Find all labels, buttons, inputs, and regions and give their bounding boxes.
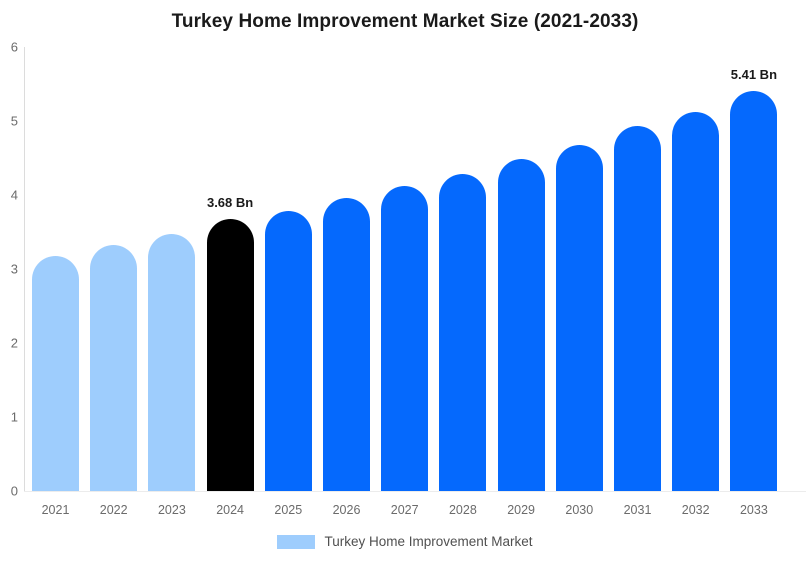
- plot-area: 012345620212022202320243.68 Bn2025202620…: [0, 0, 810, 562]
- bar-2026[interactable]: [323, 198, 370, 491]
- x-axis-line: [24, 491, 806, 492]
- bar-2031[interactable]: [614, 126, 661, 491]
- x-axis-tick-label: 2024: [207, 503, 254, 517]
- y-axis-tick-label: 0: [0, 484, 18, 499]
- bar-2033[interactable]: [730, 91, 777, 491]
- bar-2027[interactable]: [381, 186, 428, 491]
- chart-legend: Turkey Home Improvement Market: [0, 534, 810, 549]
- bar-2030[interactable]: [556, 145, 603, 491]
- x-axis-tick-label: 2025: [265, 503, 312, 517]
- x-axis-tick-label: 2026: [323, 503, 370, 517]
- y-axis-tick-label: 1: [0, 410, 18, 425]
- chart-container: Turkey Home Improvement Market Size (202…: [0, 0, 810, 562]
- x-axis-tick-label: 2032: [672, 503, 719, 517]
- y-axis-tick-label: 4: [0, 188, 18, 203]
- bar-2021[interactable]: [32, 256, 79, 491]
- y-axis-line: [24, 47, 25, 491]
- legend-label-turkey-home-improvement-market: Turkey Home Improvement Market: [324, 534, 532, 549]
- x-axis-tick-label: 2027: [381, 503, 428, 517]
- x-axis-tick-label: 2021: [32, 503, 79, 517]
- y-axis-tick-label: 3: [0, 262, 18, 277]
- x-axis-tick-label: 2022: [90, 503, 137, 517]
- y-axis-tick-label: 2: [0, 336, 18, 351]
- bar-value-label-2033: 5.41 Bn: [706, 67, 801, 82]
- x-axis-tick-label: 2033: [730, 503, 777, 517]
- legend-swatch-turkey-home-improvement-market: [277, 535, 315, 549]
- bar-2032[interactable]: [672, 112, 719, 491]
- bar-2028[interactable]: [439, 174, 486, 491]
- x-axis-tick-label: 2023: [148, 503, 195, 517]
- bar-2022[interactable]: [90, 245, 137, 491]
- x-axis-tick-label: 2028: [439, 503, 486, 517]
- bar-2024[interactable]: [207, 219, 254, 491]
- bar-value-label-2024: 3.68 Bn: [183, 195, 278, 210]
- x-axis-tick-label: 2029: [498, 503, 545, 517]
- bar-2025[interactable]: [265, 211, 312, 491]
- bar-2023[interactable]: [148, 234, 195, 491]
- x-axis-tick-label: 2031: [614, 503, 661, 517]
- y-axis-tick-label: 5: [0, 114, 18, 129]
- x-axis-tick-label: 2030: [556, 503, 603, 517]
- bar-2029[interactable]: [498, 159, 545, 491]
- y-axis-tick-label: 6: [0, 40, 18, 55]
